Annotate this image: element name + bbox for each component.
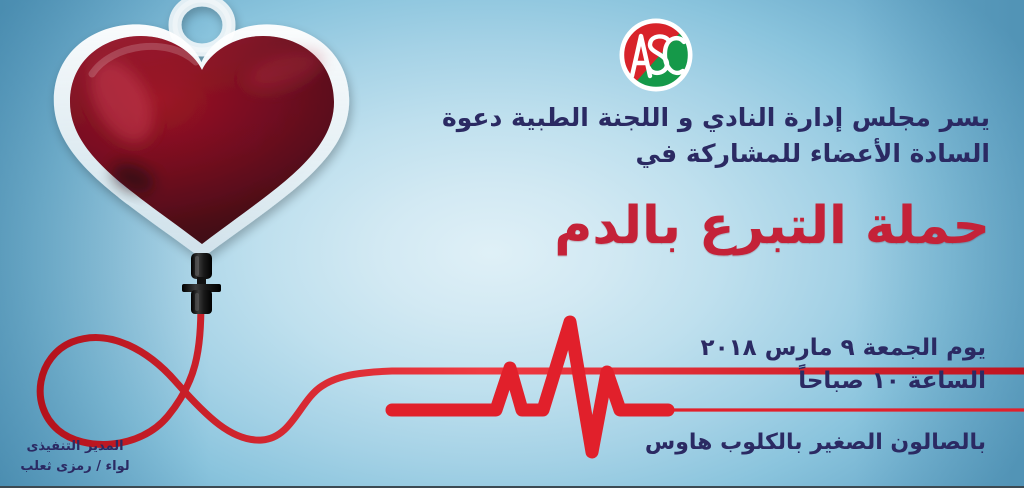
invitation-line-1: يسر مجلس إدارة النادي و اللجنة الطبية دع… (350, 100, 990, 136)
blood-donation-poster: يسر مجلس إدارة النادي و اللجنة الطبية دع… (0, 0, 1024, 488)
event-time: الساعة ١٠ صباحاً (466, 365, 986, 398)
event-date: يوم الجمعة ٩ مارس ٢٠١٨ (466, 332, 986, 365)
iv-tube-clamp (182, 253, 221, 314)
signature-block: المدير التنفيذى لواء / رمزى ثعلب (14, 437, 136, 476)
invitation-line-2: السادة الأعضاء للمشاركة في (350, 136, 990, 172)
signature-name: لواء / رمزى ثعلب (14, 457, 136, 477)
asc-club-logo (617, 16, 695, 94)
event-venue: بالصالون الصغير بالكلوب هاوس (466, 430, 986, 455)
event-datetime-block: يوم الجمعة ٩ مارس ٢٠١٨ الساعة ١٠ صباحاً (466, 332, 986, 399)
invitation-block: يسر مجلس إدارة النادي و اللجنة الطبية دع… (350, 100, 990, 255)
signature-role: المدير التنفيذى (14, 437, 136, 457)
event-venue-block: بالصالون الصغير بالكلوب هاوس (466, 430, 986, 455)
page-title: حملة التبرع بالدم (350, 197, 990, 255)
heart-shaped-blood-bag (54, 0, 349, 259)
